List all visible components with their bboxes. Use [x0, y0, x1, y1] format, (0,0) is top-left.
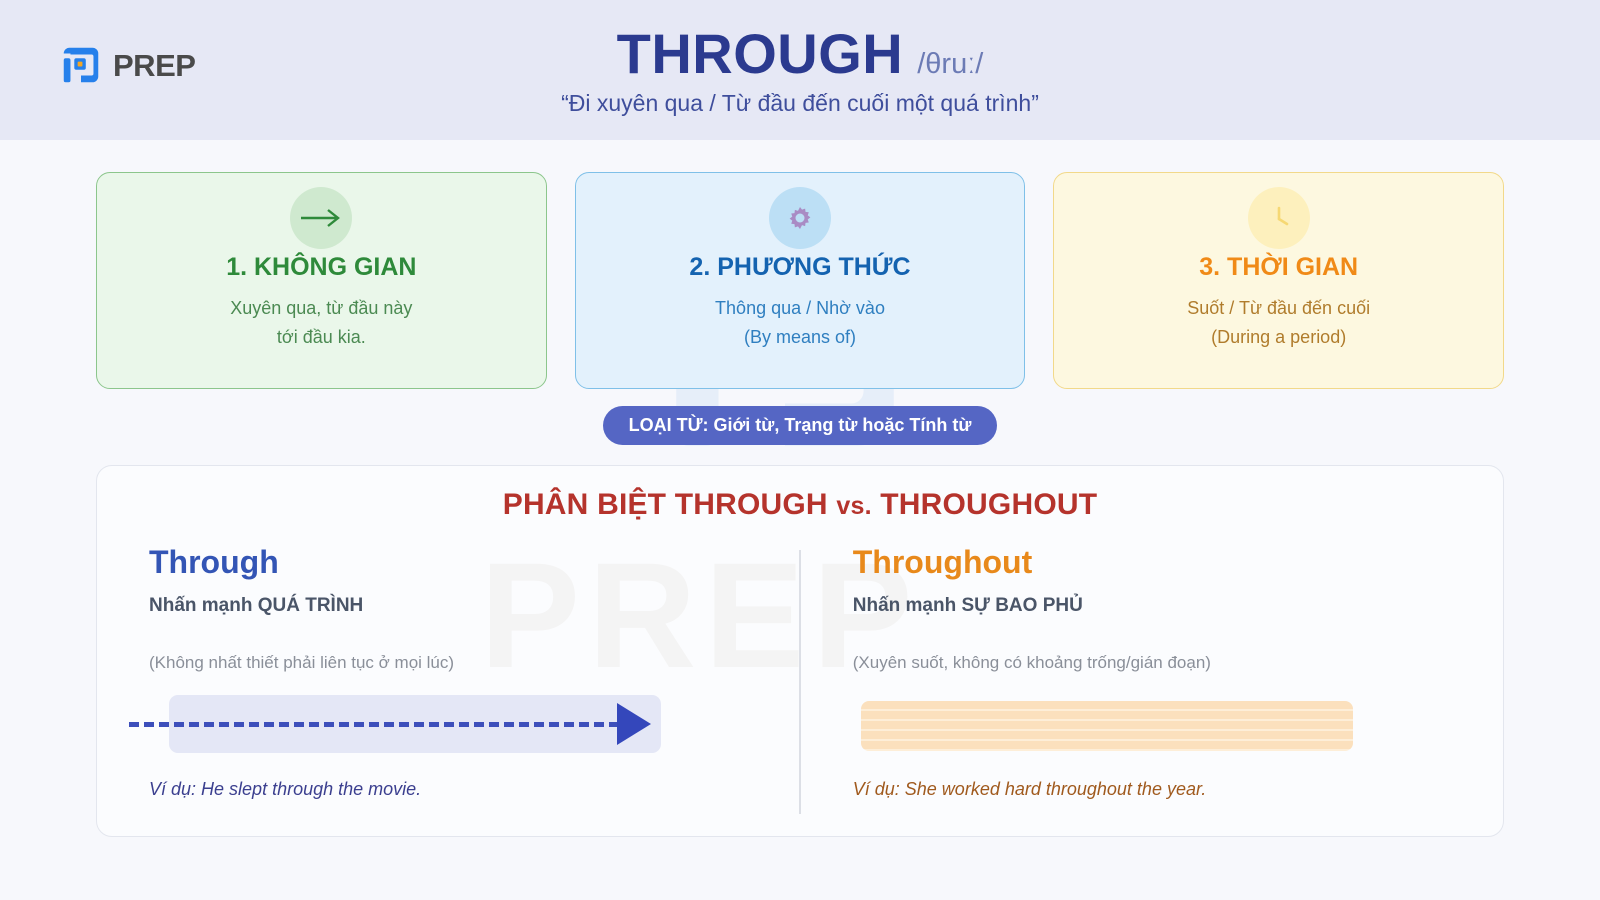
- card-desc-line-1: Suốt / Từ đầu đến cuối: [1054, 294, 1503, 323]
- column-note: (Không nhất thiết phải liên tục ở mọi lú…: [149, 653, 747, 673]
- column-emphasis: Nhấn mạnh SỰ BAO PHỦ: [853, 595, 1451, 617]
- card-title: 1. KHÔNG GIAN: [97, 253, 546, 282]
- panel-title-vs: vs.: [836, 492, 871, 520]
- page-header: PREP THROUGH /θruː/ “Đi xuyên qua / Từ đ…: [0, 0, 1600, 140]
- column-throughout: Throughout Nhấn mạnh SỰ BAO PHỦ (Xuyên s…: [801, 544, 1503, 844]
- bar-background: [861, 701, 1353, 751]
- prep-logo-mark: [58, 42, 104, 88]
- card-khong-gian[interactable]: 1. KHÔNG GIAN Xuyên qua, từ đầu này tới …: [96, 172, 547, 389]
- brand-logo-text: PREP: [113, 50, 195, 81]
- card-phuong-thuc[interactable]: 2. PHƯƠNG THỨC Thông qua / Nhờ vào (By m…: [575, 172, 1026, 389]
- panel-title: PHÂN BIỆT THROUGH vs. THROUGHOUT: [97, 488, 1503, 522]
- header-title-block: THROUGH /θruː/ “Đi xuyên qua / Từ đầu đế…: [561, 25, 1039, 118]
- panel-title-tail: THROUGHOUT: [880, 488, 1097, 521]
- clock-icon: [1248, 187, 1310, 249]
- word-type-badge-row: LOẠI TỪ: Giới từ, Trạng từ hoặc Tính từ: [0, 406, 1600, 445]
- card-desc-line-2: (By means of): [576, 323, 1025, 352]
- gear-icon: [769, 187, 831, 249]
- dashed-arrow-bar: [149, 695, 747, 753]
- page-title: THROUGH: [617, 25, 904, 84]
- card-title: 3. THỜI GIAN: [1054, 253, 1503, 282]
- page-subtitle: “Đi xuyên qua / Từ đầu đến cuối một quá …: [561, 90, 1039, 117]
- card-desc-line-2: (During a period): [1054, 323, 1503, 352]
- column-through: Through Nhấn mạnh QUÁ TRÌNH (Không nhất …: [97, 544, 799, 844]
- card-desc-line-1: Thông qua / Nhờ vào: [576, 294, 1025, 323]
- panel-title-main: PHÂN BIỆT THROUGH: [503, 488, 828, 521]
- card-desc-line-1: Xuyên qua, từ đầu này: [97, 294, 546, 323]
- column-emphasis: Nhấn mạnh QUÁ TRÌNH: [149, 595, 747, 617]
- card-thoi-gian[interactable]: 3. THỜI GIAN Suốt / Từ đầu đến cuối (Dur…: [1053, 172, 1504, 389]
- comparison-columns: Through Nhấn mạnh QUÁ TRÌNH (Không nhất …: [97, 544, 1503, 844]
- arrow-right-icon: [290, 187, 352, 249]
- dashed-line: [129, 722, 619, 727]
- column-word: Through: [149, 544, 747, 581]
- pronunciation: /θruː/: [917, 48, 983, 81]
- column-word: Throughout: [853, 544, 1451, 581]
- column-note: (Xuyên suốt, không có khoảng trống/gián …: [853, 653, 1451, 673]
- card-desc-line-2: tới đầu kia.: [97, 323, 546, 352]
- solid-striped-bar: [853, 695, 1451, 753]
- meaning-cards: 1. KHÔNG GIAN Xuyên qua, từ đầu này tới …: [0, 140, 1600, 389]
- comparison-panel: PHÂN BIỆT THROUGH vs. THROUGHOUT Through…: [96, 465, 1504, 837]
- column-example: Ví dụ: She worked hard throughout the ye…: [853, 779, 1451, 800]
- brand-logo[interactable]: PREP: [58, 42, 195, 88]
- arrow-head-icon: [617, 703, 651, 745]
- status-badge[interactable]: LOẠI TỪ: Giới từ, Trạng từ hoặc Tính từ: [603, 406, 998, 445]
- column-example: Ví dụ: He slept through the movie.: [149, 779, 747, 800]
- card-title: 2. PHƯƠNG THỨC: [576, 253, 1025, 282]
